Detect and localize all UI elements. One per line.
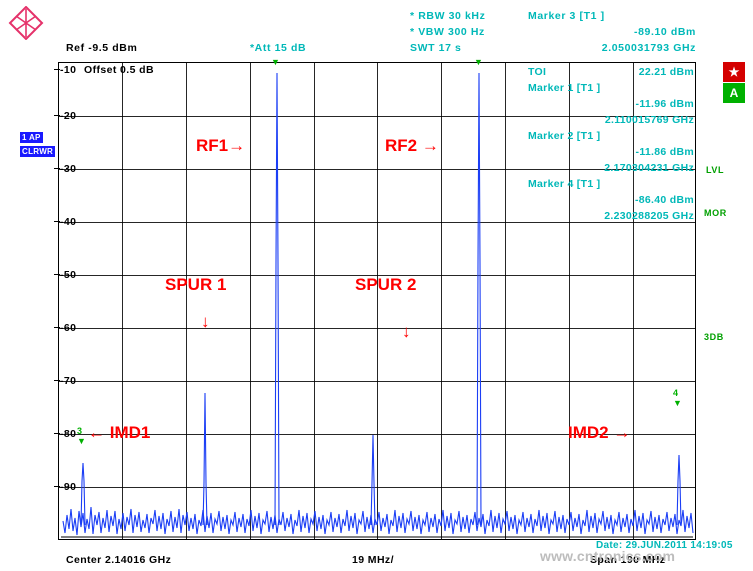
toi-value: 22.21 dBm — [639, 64, 694, 80]
marker1-frequency: 2.110015769 GHz — [605, 112, 694, 128]
ytick--30: -30 — [60, 163, 76, 175]
marker-3-indicator: 3▼ — [77, 426, 86, 446]
vbw-label: * VBW 300 Hz — [410, 26, 485, 38]
center-frequency-label: Center 2.14016 GHz — [66, 554, 171, 566]
marker-1-indicator: ▼ — [271, 57, 280, 67]
watermark: www.cntronics.com — [540, 548, 675, 564]
ytick--60: -60 — [60, 322, 76, 334]
screenshot-root: Ref -9.5 dBm *Att 15 dB * RBW 30 kHz * V… — [0, 0, 753, 571]
watermark-text: www.cntronics.com — [540, 548, 675, 564]
a-badge[interactable]: A — [723, 83, 745, 103]
ytick-dash — [54, 274, 60, 275]
marker-row: Marker 4 [T1 ] — [528, 176, 696, 192]
marker2-title: Marker 2 [T1 ] — [528, 130, 600, 142]
marker4-frequency: 2.230288205 GHz — [604, 208, 694, 224]
ytick-dash — [54, 69, 60, 70]
marker1-title: Marker 1 [T1 ] — [528, 82, 600, 94]
ytick--50: -50 — [60, 269, 76, 281]
marker-row: TOI22.21 dBm — [528, 64, 696, 80]
marker-row: -11.96 dBm — [528, 96, 696, 112]
attenuation-label: *Att 15 dB — [250, 42, 306, 54]
star-badge[interactable]: ★ — [723, 62, 745, 82]
trace-mode-box[interactable]: 1 AP — [20, 132, 43, 143]
marker-4-indicator: 4▼ — [673, 388, 682, 408]
swt-label: SWT 17 s — [410, 42, 461, 54]
side-label-lvl: LVL — [706, 165, 724, 175]
annotation-rf1: RF1→ — [196, 136, 245, 156]
ytick--40: -40 — [60, 216, 76, 228]
marker2-level: -11.86 dBm — [636, 144, 694, 160]
marker-row: Marker 1 [T1 ] — [528, 80, 696, 96]
ytick-dash — [54, 221, 60, 222]
side-label-3db: 3DB — [704, 332, 724, 342]
ytick--70: -70 — [60, 375, 76, 387]
annotation-rf2: RF2 → — [385, 136, 439, 156]
ref-level-label: Ref -9.5 dBm — [66, 42, 137, 54]
ytick--90: -90 — [60, 481, 76, 493]
detector-mode-box[interactable]: CLRWR — [20, 146, 55, 157]
span-per-division-label: 19 MHz/ — [352, 554, 394, 566]
marker-row: Marker 2 [T1 ] — [528, 128, 696, 144]
marker3-frequency: 2.050031793 GHz — [528, 42, 696, 54]
marker-row: 2.230288205 GHz — [528, 208, 696, 224]
marker4-level: -86.40 dBm — [635, 192, 694, 208]
ytick-dash — [54, 168, 60, 169]
marker-row: 2.110015769 GHz — [528, 112, 696, 128]
side-label-mor: MOR — [704, 208, 727, 218]
ytick--80: -80 — [60, 428, 76, 440]
ytick--10: -10 — [60, 64, 76, 76]
annotation-spur2-arrow: ↓ — [402, 322, 411, 342]
toi-label: TOI — [528, 66, 546, 78]
marker-row: -11.86 dBm — [528, 144, 696, 160]
ytick-dash — [54, 115, 60, 116]
annotation-spur2: SPUR 2 — [355, 275, 416, 295]
marker2-frequency: 2.170304231 GHz — [604, 160, 694, 176]
ytick-dash — [54, 380, 60, 381]
marker-readout-panel: TOI22.21 dBm Marker 1 [T1 ] -11.96 dBm 2… — [528, 64, 696, 224]
marker3-level: -89.10 dBm — [528, 26, 696, 38]
marker3-title: Marker 3 [T1 ] — [528, 10, 605, 22]
marker-2-indicator: ▼ — [474, 57, 483, 67]
ytick--20: -20 — [60, 110, 76, 122]
marker-row: 2.170304231 GHz — [528, 160, 696, 176]
ytick-dash — [54, 327, 60, 328]
offset-label: Offset 0.5 dB — [84, 64, 154, 76]
rohde-schwarz-logo — [8, 6, 44, 40]
annotation-spur1: SPUR 1 — [165, 275, 226, 295]
annotation-imd2: IMD2 → — [568, 423, 630, 443]
annotation-imd1: ← IMD1 — [88, 423, 150, 443]
rbw-label: * RBW 30 kHz — [410, 10, 485, 22]
marker1-level: -11.96 dBm — [636, 96, 694, 112]
annotation-spur1-arrow: ↓ — [201, 312, 210, 332]
marker4-title: Marker 4 [T1 ] — [528, 178, 600, 190]
marker-row: -86.40 dBm — [528, 192, 696, 208]
ytick-dash — [54, 433, 60, 434]
ytick-dash — [54, 486, 60, 487]
